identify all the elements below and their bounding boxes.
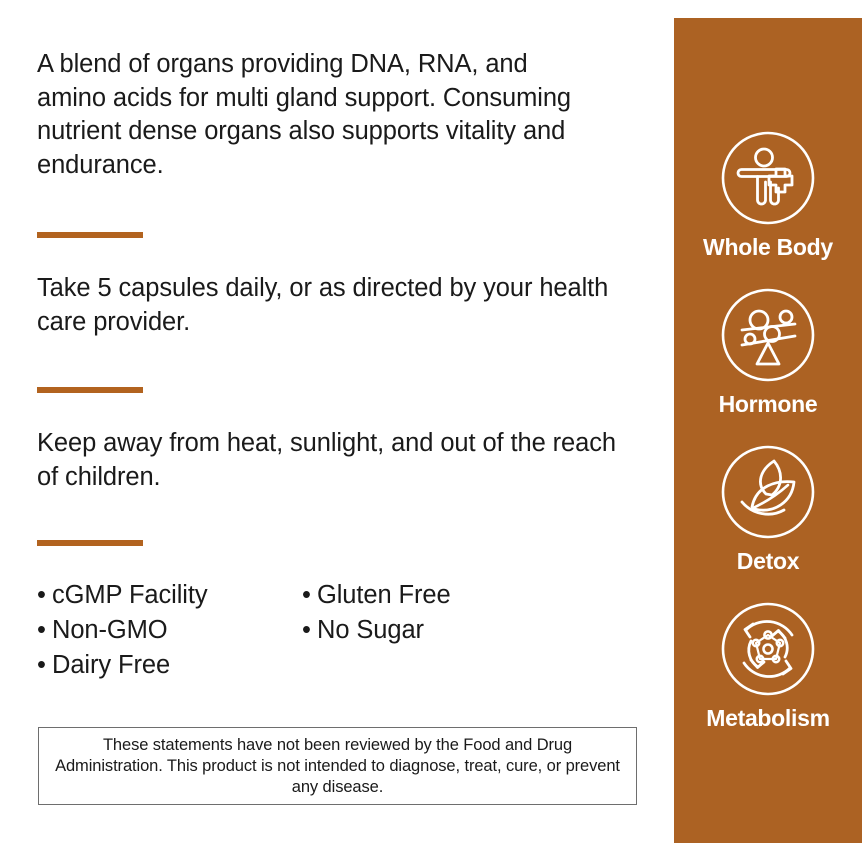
benefit-badge-detox: Detox [674,440,862,573]
bullet-icon: • [37,613,52,648]
bullet-icon: • [37,648,52,683]
bullet-icon: • [302,613,317,648]
benefit-label: Hormone [719,393,818,416]
feature-label: Gluten Free [317,581,451,609]
feature-column-right: •Gluten Free •No Sugar [302,578,644,683]
benefit-badge-hormone: Hormone [674,283,862,416]
bullet-icon: • [37,578,52,613]
bullet-icon: • [302,578,317,613]
storage-warning: Keep away from heat, sunlight, and out o… [37,427,627,494]
dosage-instructions: Take 5 capsules daily, or as directed by… [37,272,617,339]
feature-label: Dairy Free [52,651,170,679]
spacer-1 [37,238,644,272]
benefit-badge-whole-body: Whole Body [674,126,862,259]
section-divider-3 [37,540,143,546]
list-item: •Gluten Free [302,578,644,613]
benefit-icons-sidebar: Whole Body Hormone [674,18,862,843]
fda-disclaimer-text: These statements have not been reviewed … [49,735,626,798]
feature-column-left: •cGMP Facility •Non-GMO •Dairy Free [37,578,302,683]
fda-disclaimer-box: These statements have not been reviewed … [38,727,637,805]
feature-label: Non-GMO [52,616,167,644]
spacer-2 [37,393,644,427]
list-item: •Non-GMO [37,613,302,648]
benefit-badge-metabolism: Metabolism [674,597,862,730]
list-item: •No Sugar [302,613,644,648]
benefit-label: Detox [737,550,799,573]
whole-body-icon [716,126,820,230]
benefit-label: Whole Body [703,236,833,259]
benefit-label: Metabolism [706,707,830,730]
hormone-balance-icon [716,283,820,387]
leaf-detox-icon [716,440,820,544]
feature-label: No Sugar [317,616,424,644]
list-item: •Dairy Free [37,648,302,683]
metabolism-atom-icon [716,597,820,701]
product-description: A blend of organs providing DNA, RNA, an… [37,48,597,182]
supplement-label-panel: A blend of organs providing DNA, RNA, an… [0,0,862,862]
feature-label: cGMP Facility [52,581,208,609]
list-item: •cGMP Facility [37,578,302,613]
feature-badge-list: •cGMP Facility •Non-GMO •Dairy Free •Glu… [37,578,644,683]
